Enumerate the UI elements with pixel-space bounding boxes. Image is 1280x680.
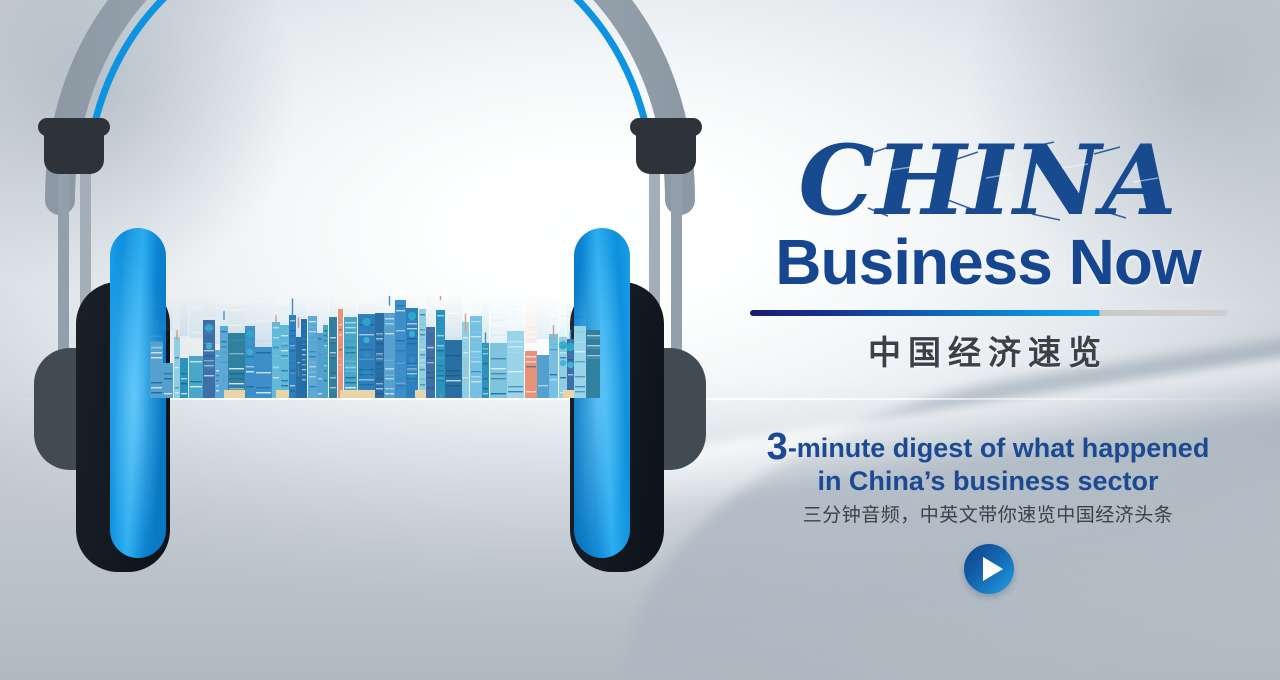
tagline-lead-number: 3 bbox=[767, 426, 788, 468]
divider-bar bbox=[750, 310, 1228, 316]
page-title: CHINA bbox=[742, 130, 1234, 235]
tagline: 3-minute digest of what happened in Chin… bbox=[742, 428, 1234, 497]
tagline-line-2: in China’s business sector bbox=[817, 466, 1158, 496]
tagline-line-1: -minute digest of what happened bbox=[788, 433, 1210, 463]
page-subtitle: Business Now bbox=[742, 230, 1234, 294]
page-title-text: CHINA bbox=[798, 130, 1177, 235]
city-skyline-icon bbox=[150, 296, 600, 508]
promo-banner: CHINA Business Now 中国经济速览 3-minute diges… bbox=[0, 0, 1280, 680]
city-skyline-reflection bbox=[150, 294, 600, 398]
play-button[interactable] bbox=[964, 544, 1014, 594]
text-panel: CHINA Business Now 中国经济速览 3-minute diges… bbox=[742, 0, 1242, 680]
tagline-chinese: 三分钟音频，中英文带你速览中国经济头条 bbox=[742, 500, 1234, 527]
page-title-chinese: 中国经济速览 bbox=[742, 326, 1234, 374]
